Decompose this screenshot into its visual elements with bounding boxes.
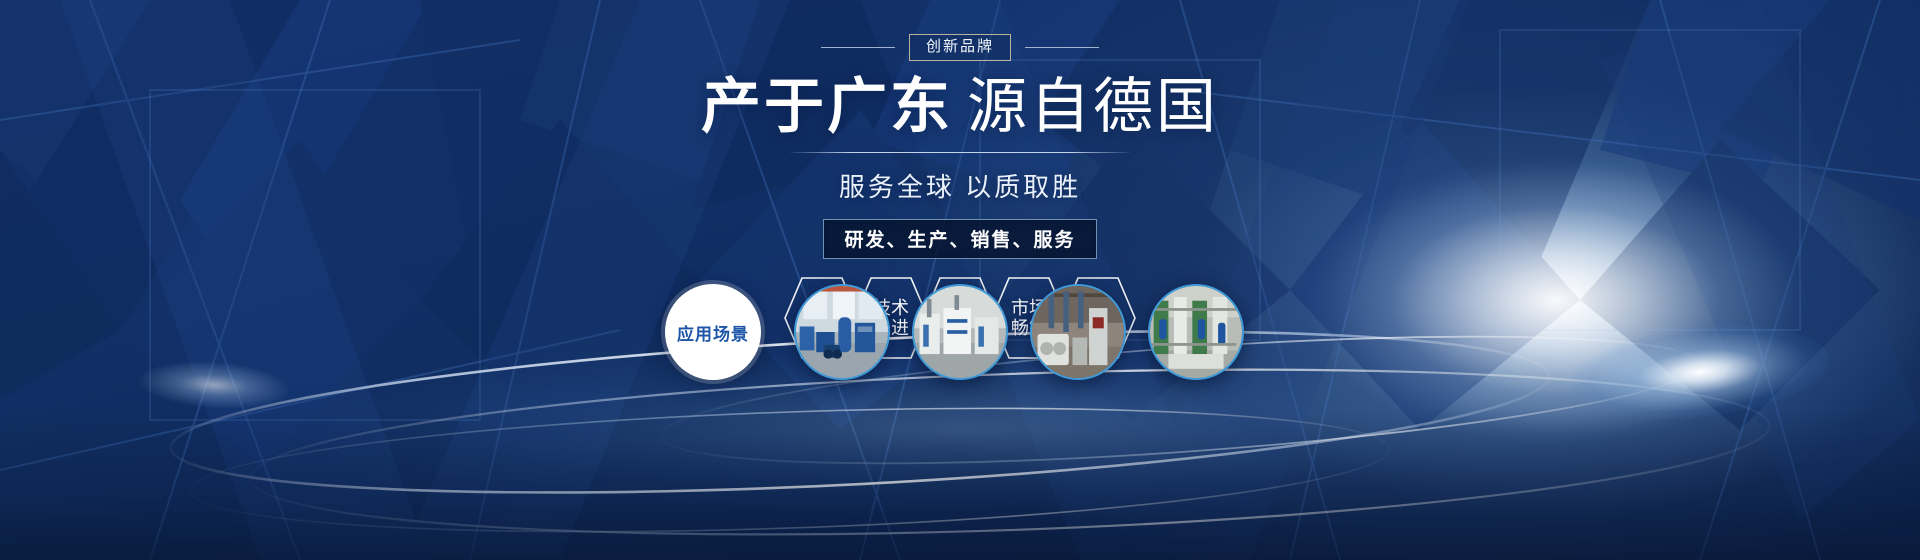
oxygen-plant-piping-skid-image [1150,286,1242,378]
application-scene-row: 应用场景 [0,284,1920,380]
services-strip: 研发、生产、销售、服务 [823,219,1096,259]
brand-badge: 创新品牌 [909,34,1011,61]
air-compressor-factory-line-image [1032,286,1124,378]
badge-rule-right [1025,47,1099,48]
scene-photo[interactable] [912,284,1008,380]
title-part-secondary: 源自德国 [967,73,1219,140]
industrial-gas-equipment-workshop-image [796,286,888,378]
brand-badge-row: 创新品牌 [821,34,1099,61]
banner-content: 创新品牌 产于广东源自德国 服务全球 以质取胜 研发、生产、销售、服务 自主 研… [0,0,1920,560]
application-scene-label[interactable]: 应用场景 [665,284,761,380]
promo-banner: 创新品牌 产于广东源自德国 服务全球 以质取胜 研发、生产、销售、服务 自主 研… [0,0,1920,560]
badge-rule-left [821,47,895,48]
title-divider [790,152,1130,153]
nitrogen-generator-plant-room-image [914,286,1006,378]
page-subtitle: 服务全球 以质取胜 [839,167,1081,204]
scene-photo[interactable] [794,284,890,380]
page-title: 产于广东源自德国 [701,75,1219,140]
scene-photo[interactable] [1030,284,1126,380]
title-part-primary: 产于广东 [701,73,953,140]
scene-photo[interactable] [1148,284,1244,380]
